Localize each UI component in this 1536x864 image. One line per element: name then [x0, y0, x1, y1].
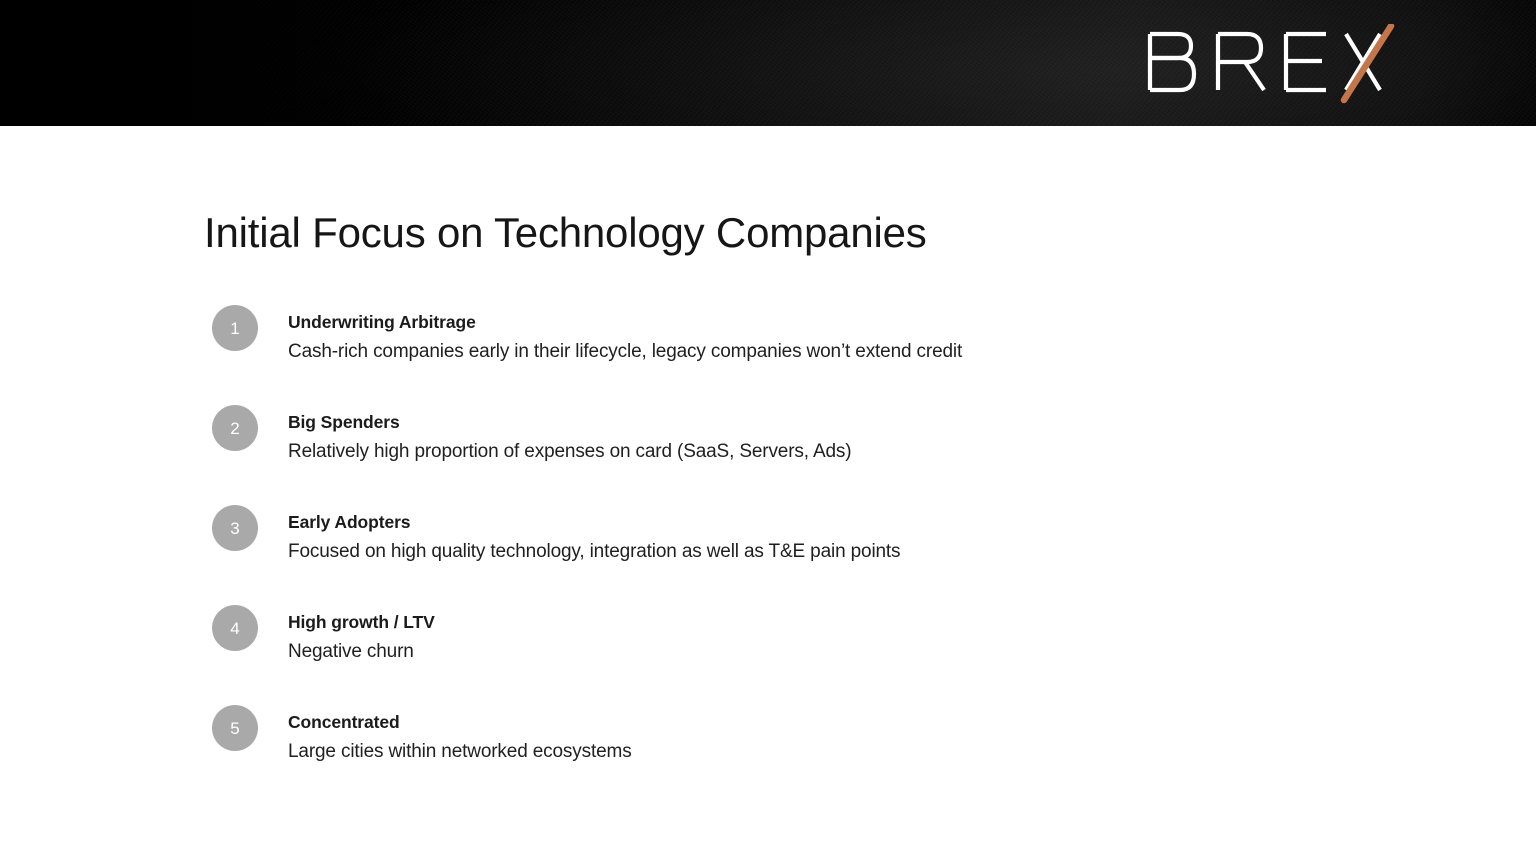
point-text-block: Underwriting Arbitrage Cash-rich compani…: [288, 311, 962, 365]
list-item: 1 Underwriting Arbitrage Cash-rich compa…: [212, 305, 1312, 405]
slide-header-band: [0, 0, 1536, 126]
brex-x-slash: [1344, 26, 1391, 100]
point-description: Focused on high quality technology, inte…: [288, 538, 900, 566]
list-item: 5 Concentrated Large cities within netwo…: [212, 705, 1312, 805]
point-number-badge: 2: [212, 405, 258, 451]
point-description: Cash-rich companies early in their lifec…: [288, 338, 962, 366]
point-description: Relatively high proportion of expenses o…: [288, 438, 851, 466]
list-item: 4 High growth / LTV Negative churn: [212, 605, 1312, 705]
point-number-badge: 5: [212, 705, 258, 751]
point-number-badge: 4: [212, 605, 258, 651]
page-title: Initial Focus on Technology Companies: [204, 209, 927, 257]
point-heading: Concentrated: [288, 711, 632, 735]
point-text-block: Big Spenders Relatively high proportion …: [288, 411, 851, 465]
point-description: Negative churn: [288, 638, 435, 666]
header-left-fade: [0, 0, 420, 126]
point-number-badge: 1: [212, 305, 258, 351]
point-text-block: Concentrated Large cities within network…: [288, 711, 632, 765]
presentation-slide: Initial Focus on Technology Companies 1 …: [0, 0, 1536, 864]
list-item: 2 Big Spenders Relatively high proportio…: [212, 405, 1312, 505]
point-text-block: Early Adopters Focused on high quality t…: [288, 511, 900, 565]
point-heading: Early Adopters: [288, 511, 900, 535]
brex-logo: [1146, 24, 1402, 104]
point-heading: Big Spenders: [288, 411, 851, 435]
point-heading: Underwriting Arbitrage: [288, 311, 962, 335]
point-number-badge: 3: [212, 505, 258, 551]
list-item: 3 Early Adopters Focused on high quality…: [212, 505, 1312, 605]
point-description: Large cities within networked ecosystems: [288, 738, 632, 766]
point-heading: High growth / LTV: [288, 611, 435, 635]
points-list: 1 Underwriting Arbitrage Cash-rich compa…: [212, 305, 1312, 805]
point-text-block: High growth / LTV Negative churn: [288, 611, 435, 665]
